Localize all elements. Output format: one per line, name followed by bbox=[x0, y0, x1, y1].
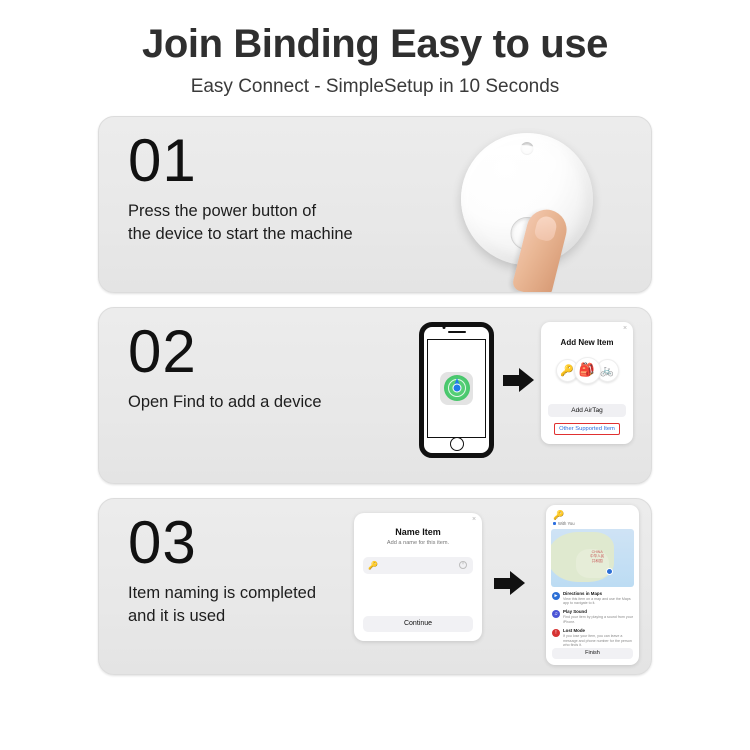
step-03-description: Item naming is completed and it is used bbox=[128, 582, 316, 629]
page-title: Join Binding Easy to use bbox=[0, 22, 750, 67]
step-01-text: 01 Press the power button of the device … bbox=[128, 131, 353, 247]
step-03-number: 03 bbox=[128, 513, 316, 573]
step-02-text: 02 Open Find to add a device bbox=[128, 322, 322, 414]
action-subtitle: Find your item by playing a sound from y… bbox=[563, 615, 633, 624]
name-item-dialog: × Name Item Add a name for this item. 🔑 … bbox=[354, 513, 482, 641]
add-item-title: Add New Item bbox=[541, 338, 633, 347]
step-01-number: 01 bbox=[128, 131, 353, 191]
finish-button[interactable]: Finish bbox=[552, 648, 633, 659]
item-status: With You bbox=[553, 521, 639, 526]
fingernail-icon bbox=[533, 214, 558, 242]
map-pin-icon bbox=[606, 568, 613, 575]
action-title: Directions in Maps bbox=[563, 591, 633, 596]
action-subtitle: View this item on a map and use the Maps… bbox=[563, 597, 633, 606]
step-card-03: 03 Item naming is completed and it is us… bbox=[98, 498, 652, 675]
panel-header: 🔑 With You bbox=[546, 505, 639, 526]
add-new-item-dialog: × Add New Item 🔑 🎒 🚲 Add AirTag Other Su… bbox=[541, 322, 633, 444]
name-item-subtitle: Add a name for this item. bbox=[354, 540, 482, 546]
find-my-radar-icon bbox=[444, 375, 470, 401]
step-02-description: Open Find to add a device bbox=[128, 391, 322, 414]
map-view[interactable]: CHINA 中华人民 共和国 bbox=[551, 529, 634, 587]
action-subtitle: If you lose your item, you can leave a m… bbox=[563, 634, 633, 648]
list-item[interactable]: ! Lost Mode If you lose your item, you c… bbox=[552, 628, 633, 648]
step-card-02: 02 Open Find to add a device bbox=[98, 307, 652, 484]
step-01-description: Press the power button of the device to … bbox=[128, 200, 353, 247]
header: Join Binding Easy to use Easy Connect - … bbox=[0, 0, 750, 98]
list-item[interactable]: ♫ Play Sound Find your item by playing a… bbox=[552, 609, 633, 624]
earpiece-icon bbox=[448, 331, 466, 334]
phone-screen bbox=[427, 339, 486, 438]
step-03-text: 03 Item naming is completed and it is us… bbox=[128, 513, 316, 629]
map-region-label: CHINA 中华人民 共和国 bbox=[590, 550, 604, 563]
keyring-hole-icon bbox=[521, 142, 534, 155]
phone-illustration: × Add New Item 🔑 🎒 🚲 Add AirTag Other Su… bbox=[409, 316, 634, 476]
action-title: Play Sound bbox=[563, 609, 633, 614]
key-icon: 🔑 bbox=[553, 510, 639, 520]
directions-icon: ► bbox=[552, 592, 560, 600]
status-label: With You bbox=[558, 521, 575, 526]
other-supported-item-link[interactable]: Other Supported Item bbox=[554, 423, 620, 435]
action-list: ► Directions in Maps View this item on a… bbox=[552, 591, 633, 648]
close-icon[interactable]: × bbox=[622, 326, 628, 332]
home-button-icon bbox=[450, 437, 464, 451]
name-item-title: Name Item bbox=[354, 527, 482, 537]
item-detail-panel: 🔑 With You CHINA 中华人民 共和国 bbox=[546, 505, 639, 665]
camera-icon bbox=[442, 326, 445, 329]
list-item[interactable]: ► Directions in Maps View this item on a… bbox=[552, 591, 633, 606]
add-airtag-button[interactable]: Add AirTag bbox=[548, 404, 626, 417]
item-emoji-row: 🔑 🎒 🚲 bbox=[541, 357, 633, 384]
sound-icon: ♫ bbox=[552, 610, 560, 618]
status-dot-icon bbox=[553, 522, 556, 525]
continue-button[interactable]: Continue bbox=[363, 616, 473, 632]
item-name-input[interactable]: 🔑 × bbox=[363, 557, 473, 574]
tracker-illustration bbox=[447, 123, 627, 291]
key-icon: 🔑 bbox=[368, 561, 378, 570]
find-my-app-icon[interactable] bbox=[440, 372, 473, 405]
lost-mode-icon: ! bbox=[552, 629, 560, 637]
close-icon[interactable]: × bbox=[471, 517, 477, 523]
step-card-01: 01 Press the power button of the device … bbox=[98, 116, 652, 293]
infographic-page: Join Binding Easy to use Easy Connect - … bbox=[0, 0, 750, 750]
steps-container: 01 Press the power button of the device … bbox=[0, 116, 750, 675]
action-title: Lost Mode bbox=[563, 628, 633, 633]
naming-illustration: × Name Item Add a name for this item. 🔑 … bbox=[354, 505, 639, 669]
clear-input-icon[interactable]: × bbox=[459, 561, 467, 569]
phone-mockup bbox=[419, 322, 494, 458]
page-subtitle: Easy Connect - SimpleSetup in 10 Seconds bbox=[0, 76, 750, 98]
radar-dot-icon bbox=[452, 384, 461, 393]
backpack-icon: 🎒 bbox=[574, 357, 601, 384]
step-02-number: 02 bbox=[128, 322, 322, 382]
